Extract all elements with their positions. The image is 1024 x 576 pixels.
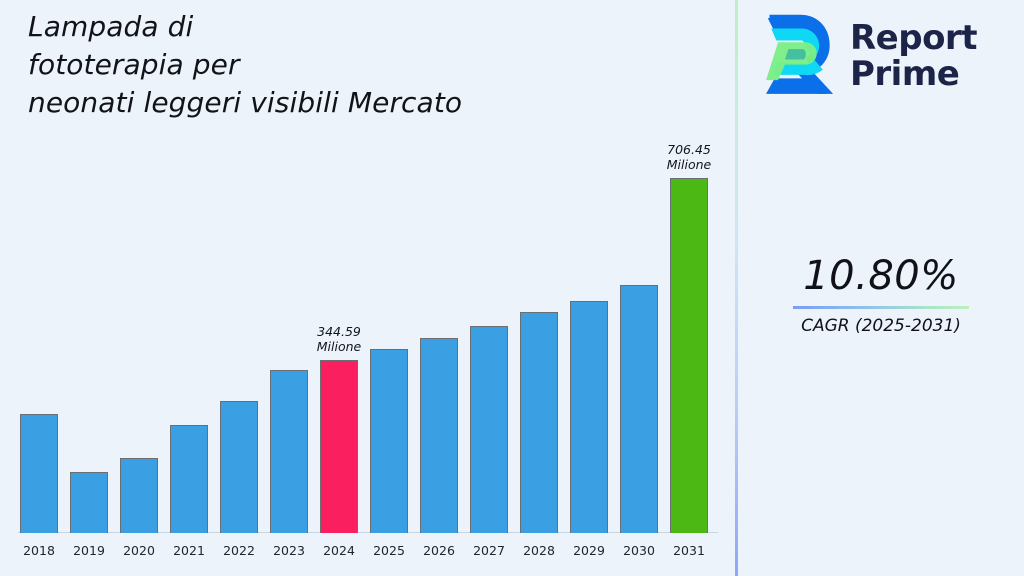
- bar-2024[interactable]: [320, 360, 358, 533]
- bar-2021[interactable]: [170, 425, 208, 533]
- bar-2027[interactable]: [470, 326, 508, 533]
- x-axis-tick-2027: 2027: [464, 543, 514, 558]
- x-axis-tick-2023: 2023: [264, 543, 314, 558]
- x-axis-tick-2024: 2024: [314, 543, 364, 558]
- bar-2031[interactable]: [670, 178, 708, 533]
- x-axis-tick-2029: 2029: [564, 543, 614, 558]
- bar-2022[interactable]: [220, 401, 258, 533]
- chart-panel: Lampada di fototerapia per neonati legge…: [0, 0, 736, 576]
- bar-2026[interactable]: [420, 338, 458, 533]
- bar-2020[interactable]: [120, 458, 158, 533]
- x-axis-tick-2026: 2026: [414, 543, 464, 558]
- report-prime-logo-icon: [754, 13, 840, 99]
- x-axis-tick-2020: 2020: [114, 543, 164, 558]
- cagr-block: 10.80% CAGR (2025-2031): [748, 252, 1014, 337]
- x-axis-tick-2028: 2028: [514, 543, 564, 558]
- x-axis-tick-2019: 2019: [64, 543, 114, 558]
- x-axis-tick-2018: 2018: [14, 543, 64, 558]
- brand-wordmark: Report Prime: [850, 20, 977, 92]
- bar-value-label-2031: 706.45 Milione: [644, 142, 734, 172]
- bar-2028[interactable]: [520, 312, 558, 533]
- x-axis-tick-2030: 2030: [614, 543, 664, 558]
- bar-2018[interactable]: [20, 414, 58, 533]
- bar-2019[interactable]: [70, 472, 108, 533]
- brand-panel: Report Prime 10.80% CAGR (2025-2031): [738, 0, 1024, 576]
- brand-logo: Report Prime: [754, 10, 1012, 102]
- bar-2030[interactable]: [620, 285, 658, 533]
- cagr-divider-rule: [793, 306, 969, 309]
- x-axis-tick-2022: 2022: [214, 543, 264, 558]
- brand-wordmark-line2: Prime: [850, 56, 977, 92]
- bar-2029[interactable]: [570, 301, 608, 533]
- x-axis-tick-2025: 2025: [364, 543, 414, 558]
- cagr-caption: CAGR (2025-2031): [748, 315, 1014, 337]
- x-axis-tick-2031: 2031: [664, 543, 714, 558]
- bar-chart-plot-area: 201820192020202120222023344.59 Milione20…: [0, 0, 736, 576]
- x-axis-tick-2021: 2021: [164, 543, 214, 558]
- bar-2025[interactable]: [370, 349, 408, 533]
- bar-2023[interactable]: [270, 370, 308, 533]
- market-chart-infographic: Lampada di fototerapia per neonati legge…: [0, 0, 1024, 576]
- brand-wordmark-line1: Report: [850, 20, 977, 56]
- cagr-value: 10.80%: [748, 252, 1014, 300]
